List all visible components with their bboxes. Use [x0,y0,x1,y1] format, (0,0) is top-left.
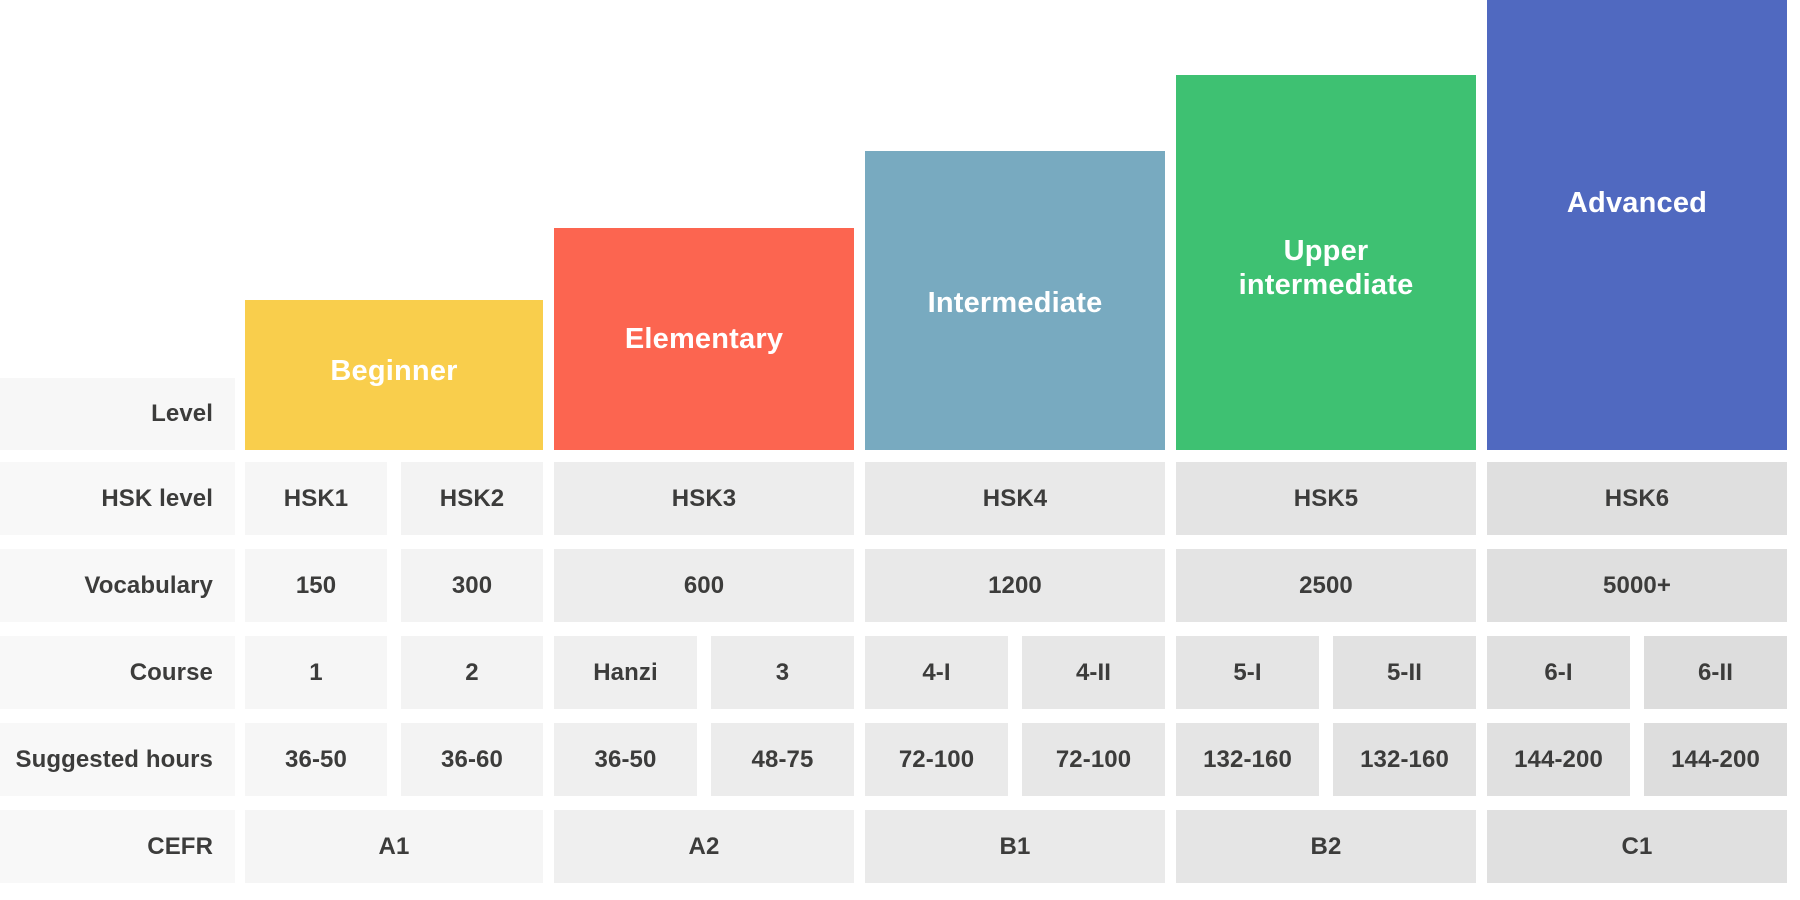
course-cell: 4-II [1022,636,1165,709]
suggested-hours-cell: 144-200 [1487,723,1630,796]
hsk-level-cell: HSK2 [401,462,543,535]
vocabulary-cell: 150 [245,549,387,622]
cefr-cell: C1 [1487,810,1787,883]
hsk-level-cell: HSK3 [554,462,854,535]
course-cell: Hanzi [554,636,697,709]
course-cell: 6-II [1644,636,1787,709]
suggested-hours-cell: 36-50 [554,723,697,796]
suggested-hours-cell: 144-200 [1644,723,1787,796]
row-label-course: Course [0,636,235,709]
suggested-hours-cell: 48-75 [711,723,854,796]
course-cell: 6-I [1487,636,1630,709]
vocabulary-cell: 1200 [865,549,1165,622]
suggested-hours-cell: 132-160 [1176,723,1319,796]
level-bar-label: Intermediate [865,287,1165,450]
level-bar-beginner: Beginner [245,300,543,450]
level-bar-advanced: Advanced [1487,0,1787,450]
level-bar-elementary: Elementary [554,228,854,450]
course-cell: 5-I [1176,636,1319,709]
row-label-hsk-level: HSK level [0,462,235,535]
vocabulary-cell: 2500 [1176,549,1476,622]
suggested-hours-cell: 36-50 [245,723,387,796]
course-cell: 3 [711,636,854,709]
vocabulary-cell: 5000+ [1487,549,1787,622]
cefr-cell: A1 [245,810,543,883]
course-cell: 4-I [865,636,1008,709]
course-cell: 5-II [1333,636,1476,709]
hsk-level-cell: HSK6 [1487,462,1787,535]
level-bar-upper-intermediate: Upper intermediate [1176,75,1476,450]
vocabulary-cell: 300 [401,549,543,622]
row-label-suggested-hours: Suggested hours [0,723,235,796]
row-label-level: Level [0,378,235,450]
level-bar-label: Elementary [554,323,854,450]
row-label-vocabulary: Vocabulary [0,549,235,622]
course-cell: 2 [401,636,543,709]
hsk-level-chart: Beginner Elementary Intermediate Upper i… [0,0,1800,900]
course-cell: 1 [245,636,387,709]
vocabulary-cell: 600 [554,549,854,622]
hsk-level-cell: HSK1 [245,462,387,535]
level-bar-label: Upper intermediate [1176,235,1476,450]
suggested-hours-cell: 72-100 [1022,723,1165,796]
suggested-hours-cell: 72-100 [865,723,1008,796]
suggested-hours-cell: 132-160 [1333,723,1476,796]
suggested-hours-cell: 36-60 [401,723,543,796]
cefr-cell: B2 [1176,810,1476,883]
hsk-level-cell: HSK4 [865,462,1165,535]
cefr-cell: B1 [865,810,1165,883]
row-label-cefr: CEFR [0,810,235,883]
cefr-cell: A2 [554,810,854,883]
level-bar-intermediate: Intermediate [865,151,1165,450]
hsk-level-cell: HSK5 [1176,462,1476,535]
level-bar-label: Advanced [1487,187,1787,450]
level-bar-label: Beginner [245,355,543,450]
